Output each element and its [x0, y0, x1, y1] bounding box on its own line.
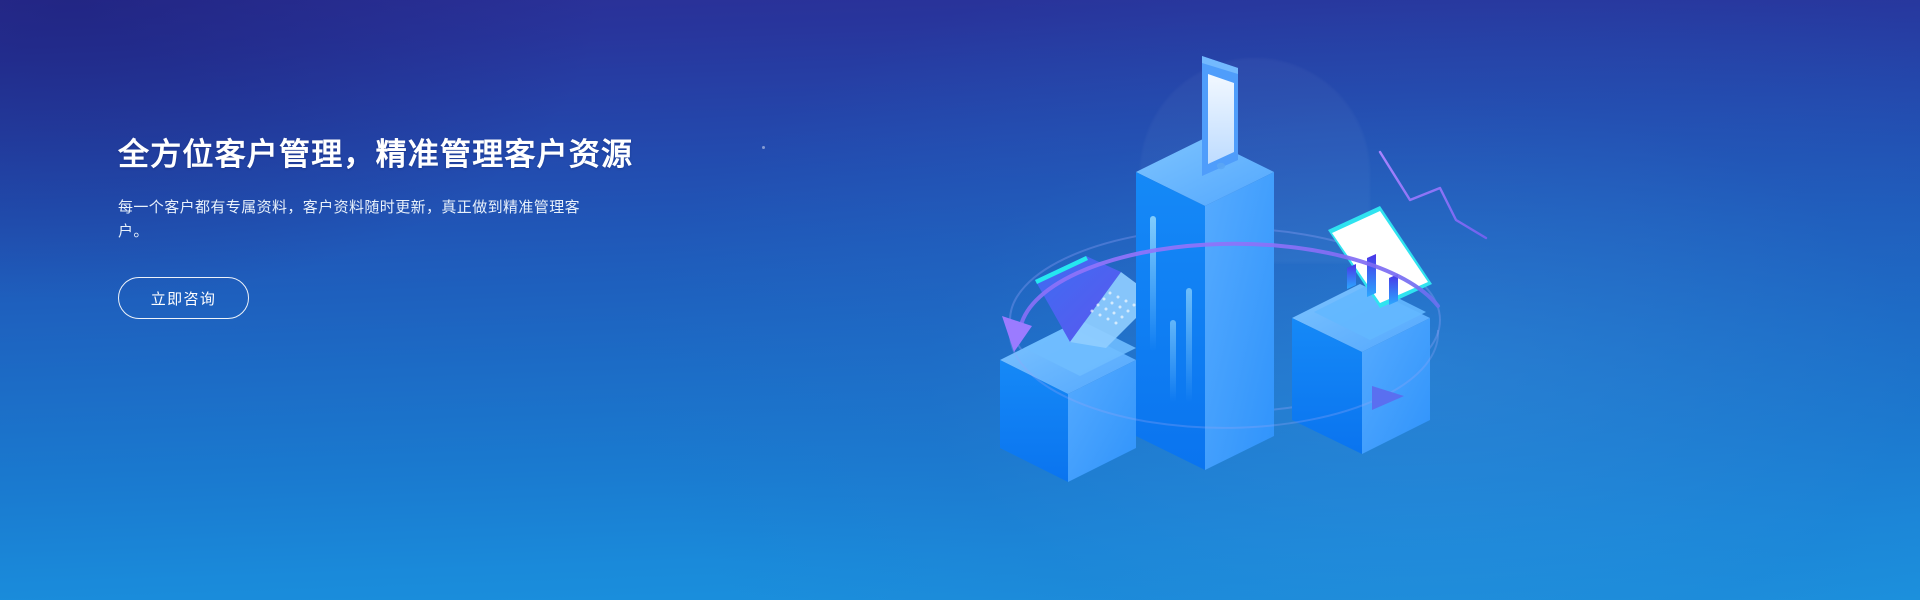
page-title: 全方位客户管理，精准管理客户资源 — [118, 136, 758, 175]
tablet-icon — [1202, 56, 1238, 176]
hero-subtitle: 每一个客户都有专属资料，客户资料随时更新，真正做到精准管理客户。 — [118, 196, 600, 245]
hero-banner: 全方位客户管理，精准管理客户资源 每一个客户都有专属资料，客户资料随时更新，真正… — [0, 0, 1920, 600]
zigzag-trend-line — [1380, 152, 1486, 238]
background-speck — [762, 146, 765, 149]
consult-now-button[interactable]: 立即咨询 — [118, 277, 249, 319]
center-pillar — [1136, 138, 1274, 470]
hero-illustration — [940, 30, 1500, 470]
hero-copy-block: 全方位客户管理，精准管理客户资源 每一个客户都有专属资料，客户资料随时更新，真正… — [118, 136, 758, 319]
